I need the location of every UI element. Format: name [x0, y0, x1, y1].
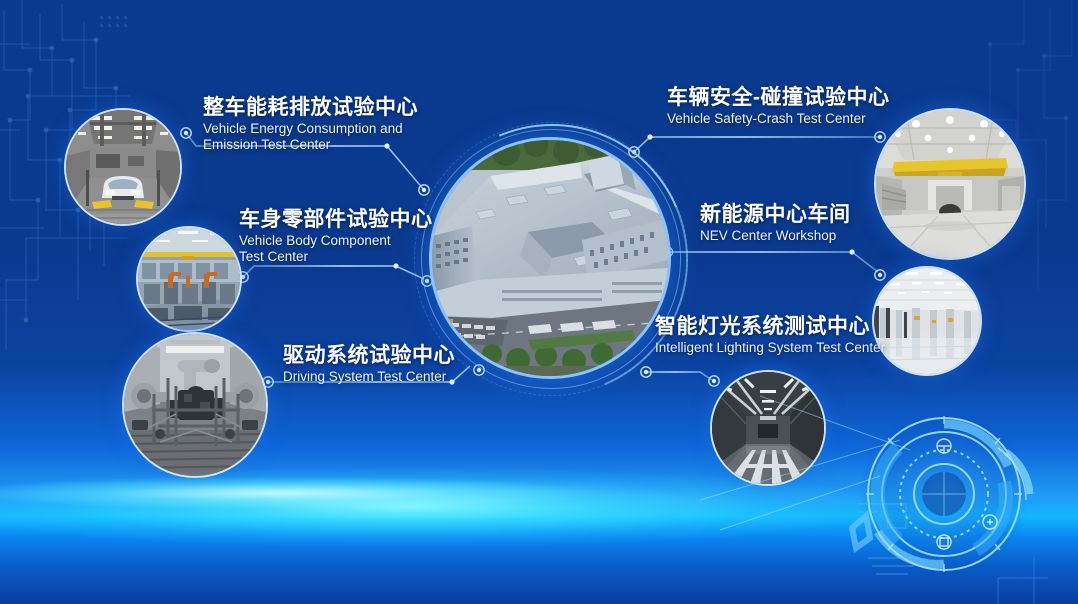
connector-nev [663, 247, 885, 280]
label-driving-cn: 驱动系统试验中心 [283, 344, 455, 369]
label-crash-cn: 车辆安全-碰撞试验中心 [667, 86, 890, 111]
label-energy: 整车能耗排放试验中心 Vehicle Energy Consumption an… [203, 96, 418, 154]
label-nev-en-1: NEV Center Workshop [700, 228, 851, 244]
label-body-en-2: Test Center [239, 249, 433, 265]
connector-body [238, 263, 432, 286]
label-lighting-en-1: Intelligent Lighting System Test Center [655, 340, 885, 356]
thumb-crash-hall[interactable] [876, 110, 1024, 258]
label-energy-en-1: Vehicle Energy Consumption and [203, 121, 418, 137]
label-crash: 车辆安全-碰撞试验中心 Vehicle Safety-Crash Test Ce… [667, 86, 890, 127]
label-body-cn: 车身零部件试验中心 [239, 208, 433, 233]
label-crash-en-1: Vehicle Safety-Crash Test Center [667, 111, 890, 127]
label-nev: 新能源中心车间 NEV Center Workshop [700, 203, 851, 244]
aerial-campus-photo [432, 140, 668, 376]
label-driving: 驱动系统试验中心 Driving System Test Center [283, 344, 455, 385]
connector-lighting [641, 367, 719, 386]
connector-crash [629, 132, 885, 157]
thumb-lighting-tunnel[interactable] [712, 372, 824, 484]
thumb-nev-workshop[interactable] [874, 268, 980, 374]
thumb-component-lab[interactable] [138, 228, 240, 330]
label-driving-en-1: Driving System Test Center [283, 369, 455, 385]
label-body-en-1: Vehicle Body Component [239, 233, 433, 249]
thumb-powertrain-cell[interactable] [124, 334, 266, 476]
infographic-stage: 整车能耗排放试验中心 Vehicle Energy Consumption an… [0, 0, 1078, 604]
label-lighting-cn: 智能灯光系统测试中心 [655, 315, 885, 340]
thumb-dynamometer-chamber[interactable] [66, 110, 180, 224]
label-body: 车身零部件试验中心 Vehicle Body Component Test Ce… [239, 208, 433, 266]
label-energy-cn: 整车能耗排放试验中心 [203, 96, 418, 121]
label-nev-cn: 新能源中心车间 [700, 203, 851, 228]
label-lighting: 智能灯光系统测试中心 Intelligent Lighting System T… [655, 315, 885, 356]
label-energy-en-2: Emission Test Center [203, 137, 418, 153]
hud-ring-graphic [848, 408, 1048, 604]
